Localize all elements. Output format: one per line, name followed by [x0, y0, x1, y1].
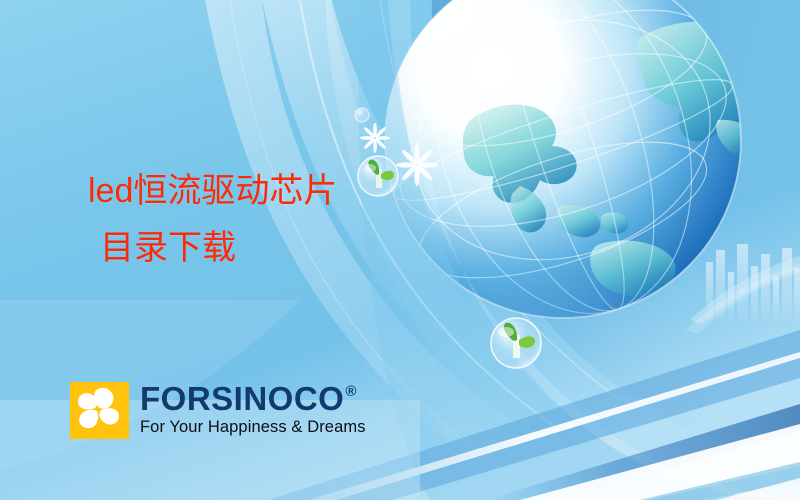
logo-wordmark: FORSINOCO ® — [140, 382, 366, 416]
pinwheel-petals — [70, 382, 129, 439]
four-petal-pinwheel-icon — [70, 382, 129, 439]
bubble-with-sprout-icon — [358, 156, 398, 196]
logo-text-block: FORSINOCO ® For Your Happiness & Dreams — [140, 382, 366, 437]
headline-line-2: 目录下载 — [88, 220, 337, 277]
headline-text: led恒流驱动芯片 目录下载 — [88, 163, 337, 277]
logo-tagline: For Your Happiness & Dreams — [140, 417, 366, 437]
banner-canvas: led恒流驱动芯片 目录下载 FORSINOCO ® For Your Happ… — [0, 0, 800, 500]
headline-line-1: led恒流驱动芯片 — [88, 172, 337, 210]
bubble-with-sprout-icon — [491, 318, 541, 368]
logo-wordmark-text: FORSINOCO — [140, 382, 344, 416]
registered-trademark-icon: ® — [345, 384, 357, 399]
bubble-icon — [355, 108, 369, 122]
brand-logo[interactable]: FORSINOCO ® For Your Happiness & Dreams — [70, 382, 366, 439]
